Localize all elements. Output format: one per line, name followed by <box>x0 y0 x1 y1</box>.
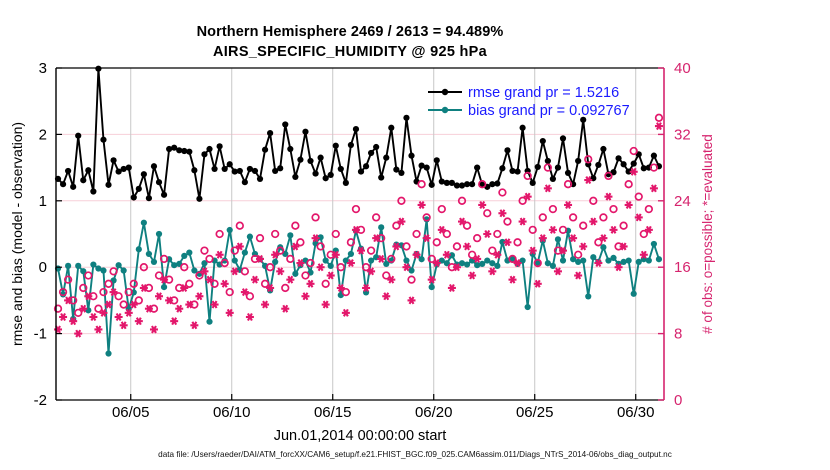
data-point-marker <box>378 224 384 230</box>
data-point-marker <box>631 161 637 167</box>
legend-label: rmse grand pr = 1.5216 <box>468 85 619 101</box>
data-point-marker <box>403 115 409 121</box>
data-point-marker <box>65 263 71 269</box>
data-point-marker <box>141 220 147 226</box>
data-point-marker <box>388 125 394 131</box>
data-point-marker <box>575 158 581 164</box>
data-point-marker <box>535 164 541 170</box>
x-axis-label: Jun.01,2014 00:00:00 start <box>274 428 447 444</box>
data-point-marker <box>555 165 561 171</box>
y-axis-label-left: rmse and bias (model - observation) <box>9 122 25 346</box>
data-point-marker <box>363 163 369 169</box>
data-point-marker <box>307 158 313 164</box>
tick-label-left: 1 <box>39 193 47 210</box>
data-point-marker <box>136 246 142 252</box>
data-point-marker <box>75 133 81 139</box>
data-point-marker <box>494 263 500 269</box>
data-point-marker <box>211 166 217 172</box>
data-point-marker <box>297 157 303 163</box>
data-point-marker <box>191 167 197 173</box>
data-point-marker <box>95 66 101 72</box>
data-point-marker <box>560 135 566 141</box>
data-point-marker <box>186 149 192 155</box>
data-point-marker <box>161 284 167 290</box>
data-point-marker <box>368 150 374 156</box>
data-point-marker <box>105 182 111 188</box>
tick-label-right: 0 <box>674 392 682 409</box>
tick-label-left: 0 <box>39 259 47 276</box>
data-point-marker <box>328 263 334 269</box>
data-point-marker <box>429 182 435 188</box>
data-point-marker <box>494 180 500 186</box>
y-axis-label-right: # of obs: o=possible; *=evaluated <box>700 134 715 334</box>
data-point-marker <box>545 158 551 164</box>
data-point-marker <box>141 171 147 177</box>
data-point-marker <box>540 138 546 144</box>
data-point-marker <box>186 249 192 255</box>
tick-label-right: 24 <box>674 193 691 210</box>
data-point-marker <box>328 172 334 178</box>
data-point-marker <box>151 259 157 265</box>
data-point-marker <box>565 170 571 176</box>
data-point-marker <box>292 271 298 277</box>
data-point-marker <box>181 253 187 259</box>
data-point-marker <box>469 181 475 187</box>
data-point-marker <box>393 166 399 172</box>
data-point-marker <box>116 262 122 268</box>
data-point-marker <box>373 144 379 150</box>
data-point-marker <box>70 184 76 190</box>
data-point-marker <box>353 126 359 132</box>
tick-label-right: 40 <box>674 60 691 77</box>
data-point-marker <box>90 188 96 194</box>
data-point-marker <box>161 192 167 198</box>
data-point-marker <box>550 176 556 182</box>
data-point-marker <box>201 151 207 157</box>
tick-label-bottom: 06/30 <box>617 404 655 421</box>
legend-marker <box>442 107 448 113</box>
data-point-marker <box>520 125 526 131</box>
data-point-marker <box>90 261 96 267</box>
data-point-marker <box>514 168 520 174</box>
data-point-marker <box>287 232 293 238</box>
data-point-marker <box>242 179 248 185</box>
data-point-marker <box>100 267 106 273</box>
data-point-marker <box>621 161 627 167</box>
tick-label-left: -2 <box>34 392 47 409</box>
data-point-marker <box>646 257 652 263</box>
legend-label: bias grand pr = 0.092767 <box>468 103 630 119</box>
data-point-marker <box>600 146 606 152</box>
data-point-marker <box>312 170 318 176</box>
data-point-marker <box>146 195 152 201</box>
tick-label-right: 8 <box>674 326 682 343</box>
data-point-marker <box>525 304 531 310</box>
data-point-marker <box>267 130 273 136</box>
data-file-footer: data file: /Users/raeder/DAI/ATM_forcXX/… <box>0 450 830 459</box>
data-point-marker <box>626 257 632 263</box>
data-point-marker <box>85 167 91 173</box>
data-point-marker <box>434 157 440 163</box>
data-point-marker <box>156 179 162 185</box>
data-point-marker <box>262 147 268 153</box>
tick-label-right: 32 <box>674 126 691 143</box>
tick-label-bottom: 06/15 <box>314 404 352 421</box>
data-point-marker <box>378 174 384 180</box>
data-point-marker <box>105 350 111 356</box>
data-point-marker <box>302 129 308 135</box>
data-point-marker <box>338 166 344 172</box>
data-point-marker <box>333 143 339 149</box>
data-point-marker <box>530 180 536 186</box>
data-point-marker <box>383 155 389 161</box>
data-point-marker <box>232 257 238 263</box>
data-point-marker <box>323 257 329 263</box>
data-point-marker <box>60 181 66 187</box>
data-point-marker <box>126 165 132 171</box>
data-point-marker <box>252 168 258 174</box>
data-point-marker <box>595 162 601 168</box>
data-point-marker <box>242 249 248 255</box>
tick-label-bottom: 06/10 <box>213 404 251 421</box>
data-point-marker <box>585 293 591 299</box>
data-point-marker <box>282 121 288 127</box>
tick-label-left: -1 <box>34 326 47 343</box>
data-point-marker <box>424 165 430 171</box>
data-point-marker <box>146 251 152 257</box>
legend-marker <box>442 89 448 95</box>
data-point-marker <box>222 166 228 172</box>
data-point-marker <box>580 257 586 263</box>
data-point-marker <box>227 227 233 233</box>
data-point-marker <box>479 261 485 267</box>
data-point-marker <box>343 180 349 186</box>
data-point-marker <box>429 284 435 290</box>
data-point-marker <box>292 174 298 180</box>
data-point-marker <box>560 257 566 263</box>
data-point-marker <box>206 319 212 325</box>
data-point-marker <box>100 137 106 143</box>
data-point-marker <box>651 153 657 159</box>
data-point-marker <box>368 257 374 263</box>
data-point-marker <box>65 168 71 174</box>
data-point-marker <box>151 163 157 169</box>
data-point-marker <box>590 254 596 260</box>
tick-label-bottom: 06/20 <box>415 404 453 421</box>
plot-canvas: 3210-1-2403224168006/0506/1006/1506/2006… <box>0 0 830 470</box>
data-point-marker <box>474 165 480 171</box>
tick-label-left: 2 <box>39 126 47 143</box>
data-point-marker <box>348 142 354 148</box>
data-point-marker <box>227 161 233 167</box>
data-point-marker <box>257 176 263 182</box>
data-point-marker <box>121 267 127 273</box>
data-point-marker <box>615 155 621 161</box>
data-point-marker <box>651 241 657 247</box>
data-point-marker <box>358 168 364 174</box>
data-point-marker <box>403 257 409 263</box>
figure-root: Northern Hemisphere 2469 / 2613 = 94.489… <box>0 0 830 470</box>
data-point-marker <box>555 236 561 242</box>
tick-label-left: 3 <box>39 60 47 77</box>
data-point-marker <box>419 256 425 262</box>
data-point-marker <box>656 256 662 262</box>
data-point-marker <box>408 153 414 159</box>
data-point-marker <box>504 147 510 153</box>
data-point-marker <box>110 157 116 163</box>
data-point-marker <box>464 261 470 267</box>
data-point-marker <box>272 259 278 265</box>
data-point-marker <box>237 168 243 174</box>
tick-label-bottom: 06/25 <box>516 404 554 421</box>
data-point-marker <box>136 186 142 192</box>
tick-label-bottom: 06/05 <box>112 404 150 421</box>
data-point-marker <box>156 231 162 237</box>
data-point-marker <box>287 146 293 152</box>
data-point-marker <box>75 263 81 269</box>
data-point-marker <box>196 196 202 202</box>
data-point-marker <box>131 194 137 200</box>
data-point-marker <box>277 165 283 171</box>
tick-label-right: 16 <box>674 259 691 276</box>
data-point-marker <box>499 165 505 171</box>
data-point-marker <box>318 155 324 161</box>
data-point-marker <box>610 255 616 261</box>
data-point-marker <box>408 267 414 273</box>
data-point-marker <box>323 175 329 181</box>
data-point-marker <box>206 146 212 152</box>
data-point-marker <box>631 291 637 297</box>
data-point-marker <box>247 234 253 240</box>
data-point-marker <box>217 143 223 149</box>
data-point-marker <box>398 170 404 176</box>
data-point-marker <box>348 251 354 257</box>
data-point-marker <box>80 177 86 183</box>
data-point-marker <box>550 263 556 269</box>
